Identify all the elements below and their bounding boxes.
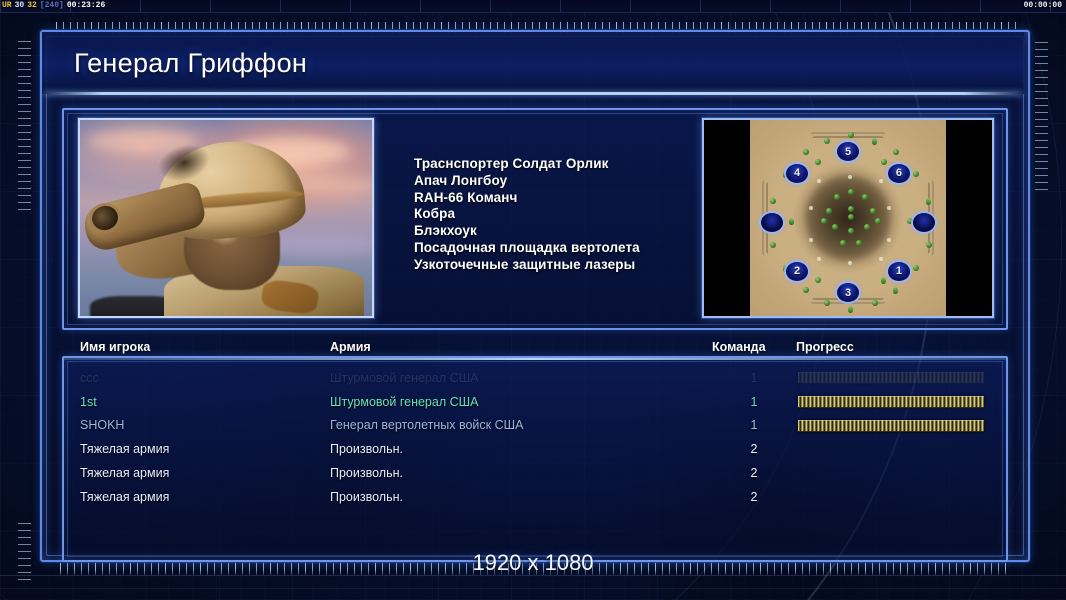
- column-header-progress: Прогресс: [796, 340, 854, 354]
- minimap-foliage: [815, 159, 821, 165]
- general-portrait: [78, 118, 374, 318]
- hud-value-a: 30: [15, 1, 25, 11]
- cell-player-name: ccc: [80, 371, 99, 385]
- page-title: Генерал Гриффон: [74, 48, 307, 79]
- cell-team: 1: [740, 371, 768, 385]
- minimap-start-position-1[interactable]: 1: [888, 262, 910, 281]
- hud-clock-right: 00:00:00: [1024, 1, 1062, 11]
- title-underline: [44, 92, 1022, 95]
- table-row[interactable]: cccШтурмовой генерал США1: [64, 366, 1006, 390]
- hud-ur-label: UR: [2, 1, 12, 11]
- table-row[interactable]: Тяжелая армияПроизвольн.2: [64, 461, 1006, 485]
- minimap-rock: [887, 238, 891, 242]
- cell-army: Штурмовой генерал США: [330, 395, 478, 409]
- player-table: cccШтурмовой генерал США11stШтурмовой ге…: [62, 356, 1008, 562]
- table-row[interactable]: Тяжелая армияПроизвольн.2: [64, 485, 1006, 509]
- minimap-foliage-center: [821, 218, 827, 224]
- cell-army: Произвольн.: [330, 490, 403, 504]
- minimap-foliage-center: [840, 240, 846, 246]
- cell-player-name: Тяжелая армия: [80, 466, 169, 480]
- info-panel: Траснспортер Солдат Орлик Апач Лонгбоу R…: [62, 108, 1008, 330]
- minimap-foliage: [815, 277, 821, 283]
- top-status-strip: [0, 0, 1066, 13]
- resolution-label: 1920 x 1080: [0, 550, 1066, 576]
- portrait-image: [80, 120, 372, 316]
- cell-team: 2: [740, 490, 768, 504]
- divider-bottom-2: [0, 588, 1066, 589]
- hud-value-dim: [240]: [40, 1, 64, 11]
- hud-left-stats: UR 30 32 [240] 00:23:26: [2, 1, 105, 11]
- minimap-start-position-blank-3[interactable]: [761, 213, 783, 232]
- unit-list-item: Блэкхоук: [414, 223, 714, 240]
- column-header-army: Армия: [330, 340, 371, 354]
- cell-progress: [798, 372, 984, 382]
- cell-team: 2: [740, 442, 768, 456]
- minimap-foliage: [926, 242, 932, 248]
- unit-list-item: Апач Лонгбоу: [414, 173, 714, 190]
- table-row[interactable]: 1stШтурмовой генерал США1: [64, 390, 1006, 414]
- minimap-letterbox-right: [946, 120, 992, 316]
- cell-player-name: SHOKH: [80, 418, 124, 432]
- progress-bar: [798, 372, 984, 384]
- cell-army: Произвольн.: [330, 466, 403, 480]
- table-row[interactable]: SHOKHГенерал вертолетных войск США1: [64, 414, 1006, 438]
- minimap-foliage: [789, 218, 794, 225]
- minimap-foliage-center: [864, 224, 870, 230]
- minimap-foliage: [872, 138, 877, 145]
- ruler-left-upper: [18, 40, 31, 210]
- minimap-foliage: [824, 300, 830, 306]
- progress-bar: [798, 420, 984, 432]
- progress-bar: [798, 396, 984, 408]
- minimap-foliage: [848, 132, 854, 138]
- minimap-rock: [817, 179, 821, 183]
- title-bar: Генерал Гриффон: [42, 32, 1024, 94]
- minimap-letterbox-left: [704, 120, 750, 316]
- table-top-highlight: [64, 358, 1006, 360]
- hud-value-b: 32: [27, 1, 37, 11]
- ruler-right: [1035, 40, 1048, 190]
- minimap-foliage-center: [848, 228, 854, 234]
- cell-team: 2: [740, 466, 768, 480]
- minimap-foliage-center: [870, 208, 876, 214]
- cell-player-name: 1st: [80, 395, 97, 409]
- minimap-foliage: [848, 306, 853, 313]
- unit-list-item: Посадочная площадка вертолета: [414, 240, 714, 257]
- table-row[interactable]: Тяжелая армияПроизвольн.2: [64, 437, 1006, 461]
- minimap-rock: [809, 238, 813, 242]
- minimap-foliage-center: [856, 240, 862, 246]
- minimap-start-position-2[interactable]: 2: [786, 262, 808, 281]
- minimap-foliage: [803, 287, 809, 293]
- unit-list-item: Кобра: [414, 206, 714, 223]
- minimap-foliage: [913, 265, 919, 271]
- top-strip-grid: [0, 0, 1066, 12]
- cell-army: Произвольн.: [330, 442, 403, 456]
- cell-progress: [798, 420, 984, 430]
- column-header-player: Имя игрока: [80, 340, 150, 354]
- minimap-rock: [817, 257, 821, 261]
- cell-player-name: Тяжелая армия: [80, 442, 169, 456]
- minimap-foliage: [893, 287, 898, 294]
- cell-progress: [798, 396, 984, 406]
- cell-team: 1: [740, 395, 768, 409]
- minimap-rock: [848, 175, 852, 179]
- minimap-start-position-4[interactable]: 4: [786, 164, 808, 183]
- minimap-foliage: [881, 277, 886, 284]
- unit-list-item: Траснспортер Солдат Орлик: [414, 156, 714, 173]
- cell-army: Штурмовой генерал США: [330, 371, 478, 385]
- unit-list-item: Узкоточечные защитные лазеры: [414, 257, 714, 274]
- minimap-start-position-6[interactable]: 6: [888, 164, 910, 183]
- minimap-terrain: 546213: [750, 120, 946, 316]
- cell-player-name: Тяжелая армия: [80, 490, 169, 504]
- column-header-team: Команда: [712, 340, 766, 354]
- minimap-foliage: [770, 242, 776, 248]
- hud-clock-left: 00:23:26: [67, 1, 105, 11]
- minimap-foliage: [872, 300, 878, 306]
- game-screen: UR 30 32 [240] 00:23:26 00:00:00 Генерал…: [0, 0, 1066, 600]
- minimap-foliage: [913, 171, 919, 177]
- unit-list-item: RAH-66 Команч: [414, 190, 714, 207]
- unit-list: Траснспортер Солдат Орлик Апач Лонгбоу R…: [414, 156, 714, 274]
- minimap-foliage: [907, 218, 913, 224]
- cell-team: 1: [740, 418, 768, 432]
- cell-army: Генерал вертолетных войск США: [330, 418, 523, 432]
- minimap[interactable]: 546213: [702, 118, 994, 318]
- minimap-foliage-center: [848, 189, 854, 195]
